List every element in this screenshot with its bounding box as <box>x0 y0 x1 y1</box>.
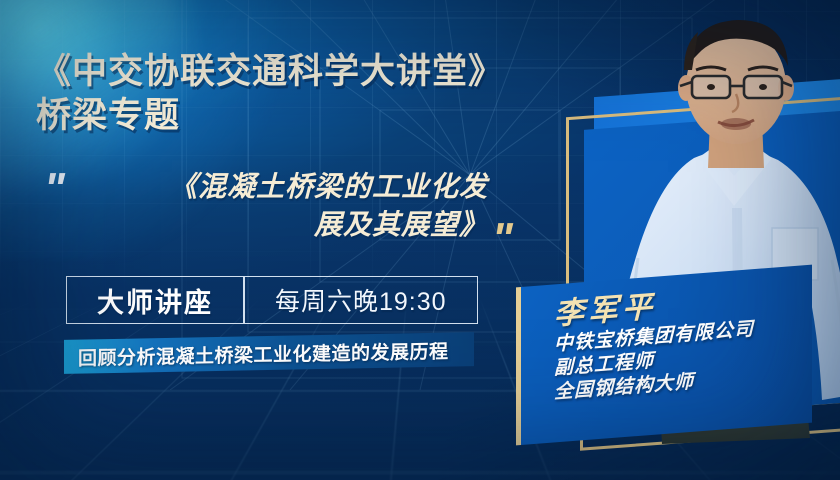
schedule-label-cell: 大师讲座 <box>67 277 243 323</box>
poster-canvas: 李军平 中铁宝桥集团有限公司 副总工程师 全国钢结构大师 《中交协联交通科学大讲… <box>0 0 840 480</box>
schedule-time-cell: 每周六晚19:30 <box>245 277 478 323</box>
title-line-1: 《中交协联交通科学大讲堂》 <box>36 50 556 94</box>
quote-close-icon: " <box>492 226 511 252</box>
quote-line-2: 展及其展望》 <box>88 206 488 244</box>
page-title: 《中交协联交通科学大讲堂》 桥梁专题 <box>36 50 556 138</box>
schedule-box: 大师讲座 每周六晚19:30 <box>66 276 478 324</box>
schedule-label: 大师讲座 <box>97 281 213 320</box>
schedule-time: 每周六晚19:30 <box>275 282 447 318</box>
title-line-2: 桥梁专题 <box>36 94 556 138</box>
quote-line-1: 《混凝土桥梁的工业化发 <box>88 168 488 206</box>
lecture-topic-quote: " " 《混凝土桥梁的工业化发 展及其展望》 <box>40 168 540 244</box>
speaker-info-text: 李军平 中铁宝桥集团有限公司 副总工程师 全国钢结构大师 <box>524 264 824 445</box>
quote-open-icon: " <box>44 176 63 202</box>
